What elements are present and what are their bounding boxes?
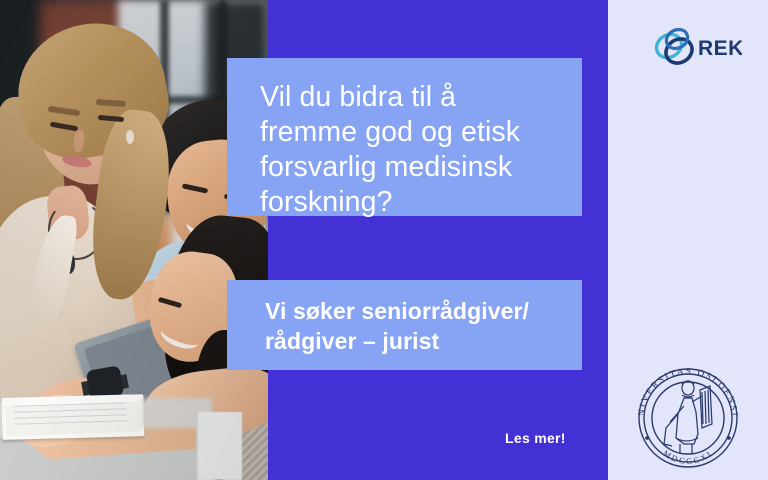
uio-seal: UNIVERSITAS OSLOENSIS MDCCCXI	[632, 362, 744, 480]
headline-box: Vil du bidra til å fremme god og etisk f…	[227, 58, 582, 216]
seal-apollo-figure	[664, 381, 712, 454]
seal-dot	[645, 436, 649, 440]
subhead-box: Vi søker seniorrådgiver/ rådgiver – juri…	[227, 280, 582, 370]
rek-wordmark: REK	[698, 37, 742, 60]
rek-logo: REK	[650, 26, 742, 70]
uio-seal-svg: UNIVERSITAS OSLOENSIS MDCCCXI	[632, 362, 744, 480]
seal-outer-text: UNIVERSITAS OSLOENSIS	[632, 362, 740, 418]
banner-canvas: Vil du bidra til å fremme god og etisk f…	[0, 0, 768, 480]
rek-logo-svg: REK	[650, 26, 742, 70]
seal-dot	[727, 436, 731, 440]
read-more-link[interactable]: Les mer!	[505, 430, 566, 446]
headline-text: Vil du bidra til å fremme god og etisk f…	[260, 80, 560, 220]
subhead-text: Vi søker seniorrådgiver/ rådgiver – juri…	[265, 296, 565, 356]
interlocking-rings-icon	[652, 26, 696, 68]
seal-core-ring	[652, 382, 724, 454]
